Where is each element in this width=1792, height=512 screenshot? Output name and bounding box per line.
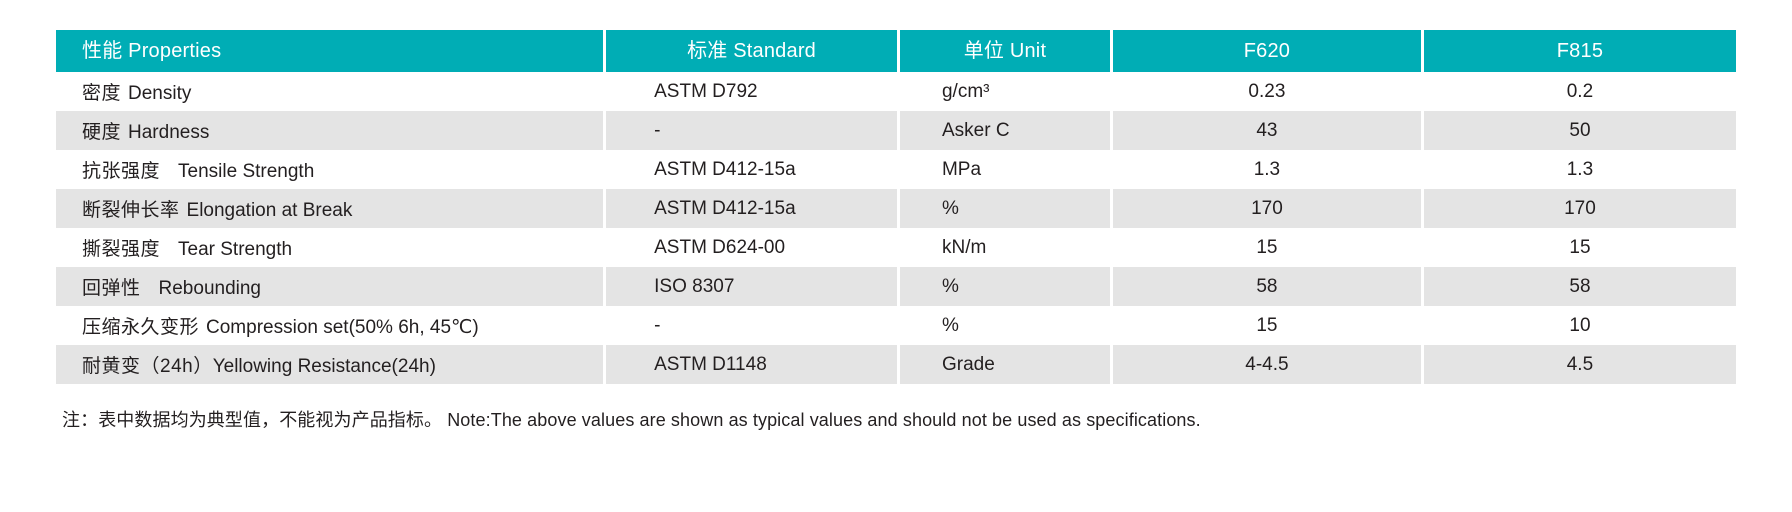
property-label-en: Elongation at Break xyxy=(187,200,353,221)
cell-f815: 10 xyxy=(1424,306,1736,345)
table-row: 抗张强度Tensile StrengthASTM D412-15aMPa1.31… xyxy=(56,150,1736,189)
cell-standard: ASTM D1148 xyxy=(606,345,900,384)
table-row: 密度DensityASTM D792g/cm³0.230.2 xyxy=(56,72,1736,111)
spec-sheet: 性能 Properties 标准 Standard 单位 Unit F620 F… xyxy=(0,0,1792,512)
table-row: 硬度Hardness-Asker C4350 xyxy=(56,111,1736,150)
cell-standard: ASTM D624-00 xyxy=(606,228,900,267)
cell-unit: kN/m xyxy=(900,228,1113,267)
table-footnote: 注：表中数据均为典型值，不能视为产品指标。 Note:The above val… xyxy=(56,406,1736,432)
cell-unit: % xyxy=(900,189,1113,228)
cell-f815: 58 xyxy=(1424,267,1736,306)
cell-property: 撕裂强度Tear Strength xyxy=(56,228,606,267)
cell-f620: 4-4.5 xyxy=(1113,345,1424,384)
cell-f815: 4.5 xyxy=(1424,345,1736,384)
property-label-en: Compression set(50% 6h, 45℃) xyxy=(206,317,479,338)
cell-f815: 170 xyxy=(1424,189,1736,228)
cell-standard: - xyxy=(606,111,900,150)
cell-f815: 50 xyxy=(1424,111,1736,150)
cell-f620: 0.23 xyxy=(1113,72,1424,111)
cell-f620: 15 xyxy=(1113,228,1424,267)
table-row: 耐黄变（24h）Yellowing Resistance(24h)ASTM D1… xyxy=(56,345,1736,384)
cell-f620: 1.3 xyxy=(1113,150,1424,189)
property-label-en: Tensile Strength xyxy=(178,161,314,182)
table-row: 撕裂强度Tear StrengthASTM D624-00kN/m1515 xyxy=(56,228,1736,267)
cell-property: 硬度Hardness xyxy=(56,111,606,150)
table-header: 性能 Properties 标准 Standard 单位 Unit F620 F… xyxy=(56,30,1736,72)
cell-standard: ASTM D792 xyxy=(606,72,900,111)
cell-f815: 15 xyxy=(1424,228,1736,267)
column-header-unit: 单位 Unit xyxy=(900,30,1113,72)
cell-f620: 170 xyxy=(1113,189,1424,228)
cell-f620: 43 xyxy=(1113,111,1424,150)
property-label-cn: 断裂伸长率 xyxy=(82,200,180,221)
property-label-en: Rebounding xyxy=(159,278,261,299)
cell-f620: 58 xyxy=(1113,267,1424,306)
cell-unit: % xyxy=(900,306,1113,345)
cell-unit: g/cm³ xyxy=(900,72,1113,111)
property-label-cn: 回弹性 xyxy=(82,278,141,299)
column-header-f815: F815 xyxy=(1424,30,1736,72)
cell-unit: MPa xyxy=(900,150,1113,189)
cell-standard: ISO 8307 xyxy=(606,267,900,306)
column-header-standard: 标准 Standard xyxy=(606,30,900,72)
cell-unit: Asker C xyxy=(900,111,1113,150)
property-label-cn: 耐黄变（24h） xyxy=(82,356,213,377)
property-label-en: Yellowing Resistance(24h) xyxy=(213,356,436,377)
property-label-cn: 压缩永久变形 xyxy=(82,317,199,338)
cell-standard: - xyxy=(606,306,900,345)
property-label-en: Tear Strength xyxy=(178,239,292,260)
column-header-properties: 性能 Properties xyxy=(56,30,606,72)
cell-standard: ASTM D412-15a xyxy=(606,189,900,228)
table-row: 压缩永久变形Compression set(50% 6h, 45℃)-%1510 xyxy=(56,306,1736,345)
cell-unit: Grade xyxy=(900,345,1113,384)
property-label-en: Density xyxy=(128,83,191,104)
cell-unit: % xyxy=(900,267,1113,306)
property-label-en: Hardness xyxy=(128,122,209,143)
cell-f815: 1.3 xyxy=(1424,150,1736,189)
property-label-cn: 抗张强度 xyxy=(82,161,160,182)
property-label-cn: 撕裂强度 xyxy=(82,239,160,260)
cell-property: 断裂伸长率Elongation at Break xyxy=(56,189,606,228)
cell-property: 抗张强度Tensile Strength xyxy=(56,150,606,189)
property-label-cn: 硬度 xyxy=(82,122,121,143)
table-row: 回弹性ReboundingISO 8307%5858 xyxy=(56,267,1736,306)
cell-standard: ASTM D412-15a xyxy=(606,150,900,189)
table-header-row: 性能 Properties 标准 Standard 单位 Unit F620 F… xyxy=(56,30,1736,72)
cell-property: 压缩永久变形Compression set(50% 6h, 45℃) xyxy=(56,306,606,345)
cell-f620: 15 xyxy=(1113,306,1424,345)
cell-property: 密度Density xyxy=(56,72,606,111)
cell-f815: 0.2 xyxy=(1424,72,1736,111)
properties-table: 性能 Properties 标准 Standard 单位 Unit F620 F… xyxy=(56,30,1736,384)
table-row: 断裂伸长率Elongation at BreakASTM D412-15a%17… xyxy=(56,189,1736,228)
cell-property: 回弹性Rebounding xyxy=(56,267,606,306)
property-label-cn: 密度 xyxy=(82,83,121,104)
table-body: 密度DensityASTM D792g/cm³0.230.2硬度Hardness… xyxy=(56,72,1736,384)
column-header-f620: F620 xyxy=(1113,30,1424,72)
cell-property: 耐黄变（24h）Yellowing Resistance(24h) xyxy=(56,345,606,384)
